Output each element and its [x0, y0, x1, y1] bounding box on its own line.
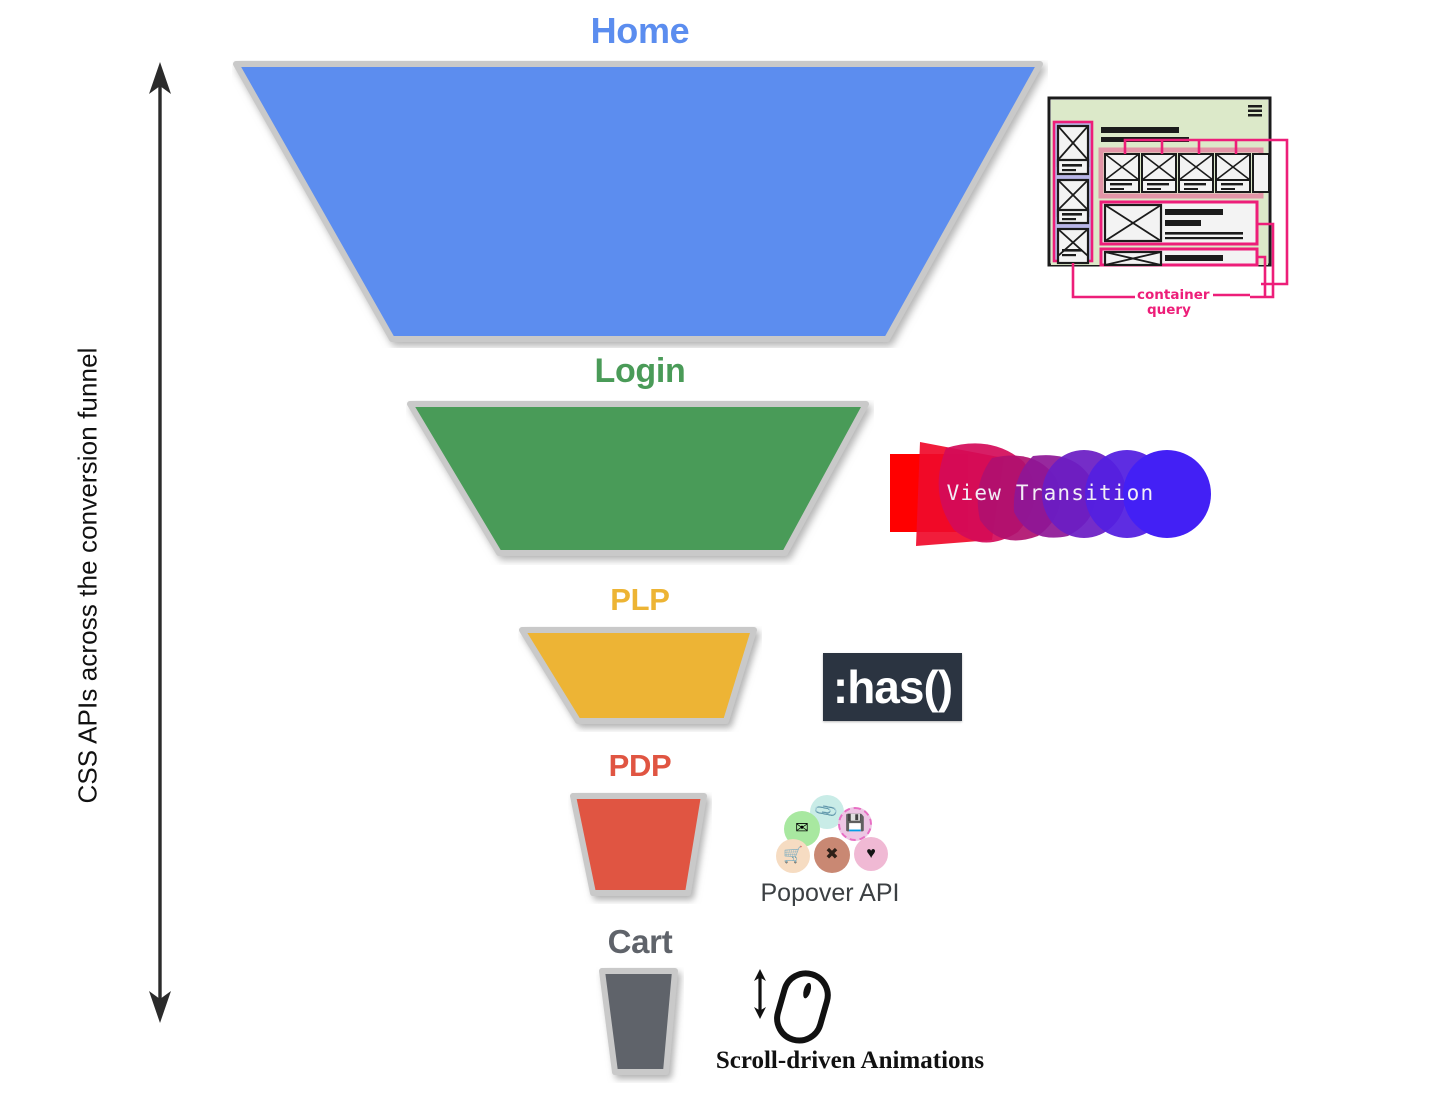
funnel-shape-plp	[518, 626, 762, 732]
has-selector-badge[interactable]: :has()	[823, 653, 962, 721]
vertical-double-arrow-icon	[754, 969, 766, 1019]
popover-api-icon-cluster[interactable]: 📎 ✉ 💾 🛒 ✖ ♥	[776, 795, 886, 873]
has-selector-label: :has()	[833, 664, 952, 710]
funnel-stage-pdp[interactable]: PDP	[568, 748, 712, 903]
funnel-stage-plp[interactable]: PLP	[518, 582, 762, 732]
funnel-stage-label-login: Login	[406, 352, 874, 391]
floppy-disk-icon[interactable]: 💾	[838, 807, 872, 841]
scroll-driven-animations-label: Scroll-driven Animations	[640, 1047, 1060, 1075]
funnel-stage-label-pdp: PDP	[568, 748, 712, 784]
funnel-stage-label-home: Home	[232, 10, 1048, 52]
container-query-caption-line2: query	[1147, 302, 1191, 318]
container-query-wireframe-icon: container query	[1035, 92, 1325, 332]
funnel-shape-pdp	[568, 792, 712, 904]
funnel-stage-home[interactable]: Home	[232, 10, 1048, 350]
funnel-stage-label-cart: Cart	[596, 923, 684, 961]
funnel-stage-label-plp: PLP	[518, 582, 762, 618]
shopping-cart-icon[interactable]: 🛒	[776, 839, 810, 873]
view-transition-morph-icon	[888, 432, 1213, 554]
close-x-icon[interactable]: ✖	[814, 837, 850, 873]
funnel-shape-login	[406, 400, 874, 565]
funnel-shape-home	[232, 60, 1048, 348]
funnel-stage-login[interactable]: Login	[406, 352, 874, 572]
mouse-scroll-icon	[745, 967, 855, 1047]
popover-api-label: Popover API	[700, 879, 960, 908]
heart-icon[interactable]: ♥	[854, 837, 888, 871]
container-query-caption-line1: container	[1137, 287, 1210, 303]
